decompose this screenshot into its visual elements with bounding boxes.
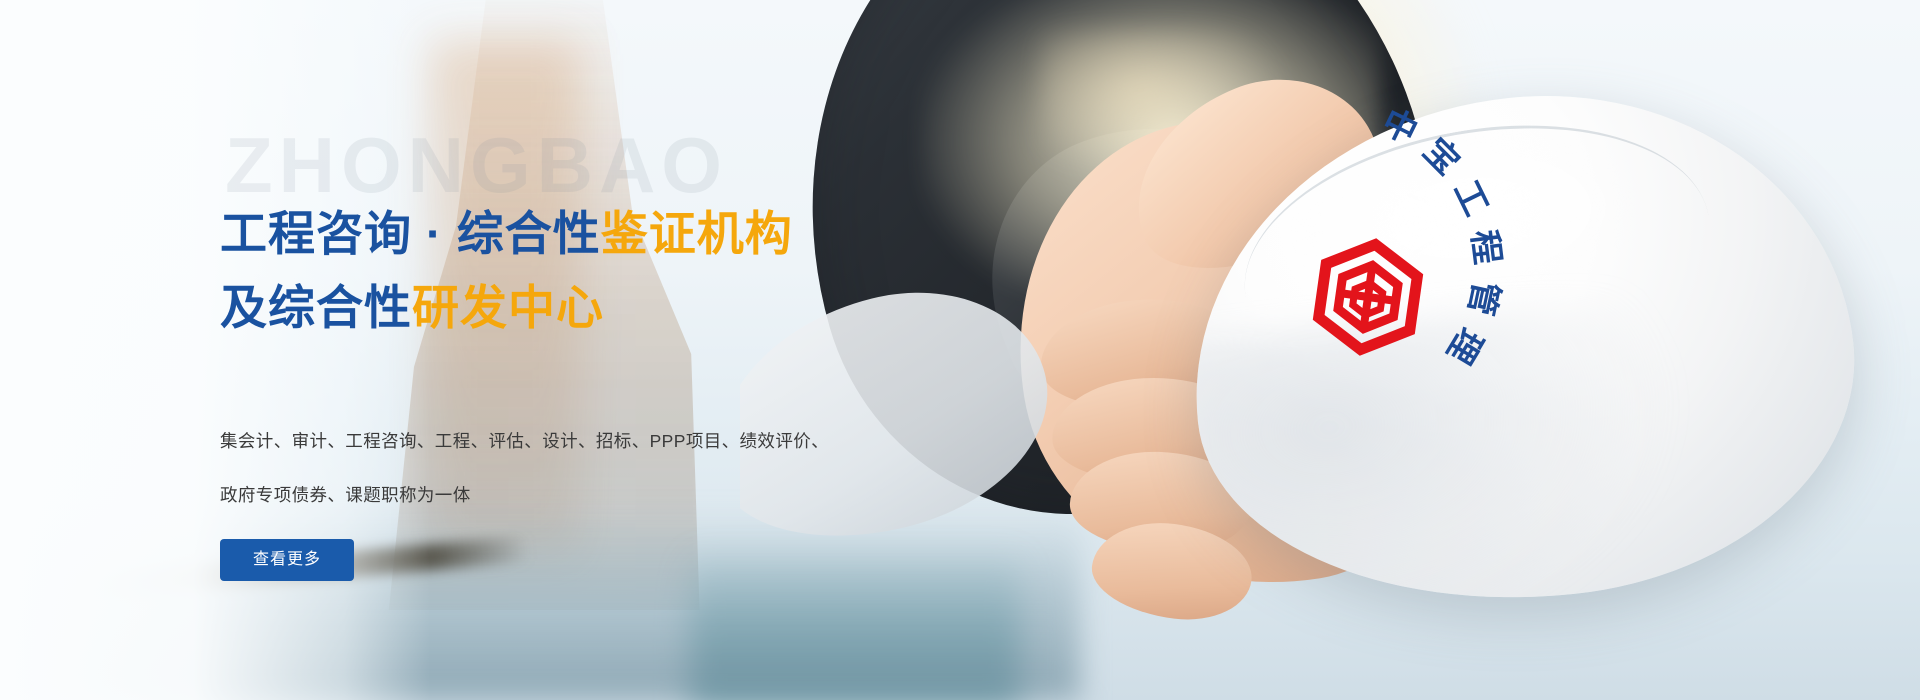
headline-line2-accent: 研发中心 [412,281,604,334]
helmet-brand-char: 宝 [1414,125,1473,184]
description-line-1: 集会计、审计、工程咨询、工程、评估、设计、招标、PPP项目、绩效评价、 [220,414,840,468]
description-line-2: 政府专项债券、课题职称为一体 [220,468,840,522]
zhongbao-hexagon-logo-icon [1308,238,1428,356]
view-more-button[interactable]: 查看更多 [220,539,354,581]
hero-content: ZHONGBAO 工程咨询 · 综合性鉴证机构 及综合性研发中心 集会计、审计、… [220,0,980,700]
helmet-brand-char: 理 [1438,320,1498,374]
headline-line1-primary: 工程咨询 · 综合性 [220,207,601,260]
hero-banner: 中宝工程管理 ZHONGBAO 工程咨询 · 综合性鉴证机构 及综合性研发中心 … [0,0,1920,700]
headline-line1-accent: 鉴证机构 [601,207,793,260]
helmet-brand-char: 程 [1462,227,1515,267]
helmet-brand-char: 中 [1375,95,1427,154]
page-title: 工程咨询 · 综合性鉴证机构 及综合性研发中心 [220,197,980,345]
hero-description: 集会计、审计、工程咨询、工程、评估、设计、招标、PPP项目、绩效评价、 政府专项… [220,414,840,522]
headline-line2-primary: 及综合性 [220,281,412,334]
